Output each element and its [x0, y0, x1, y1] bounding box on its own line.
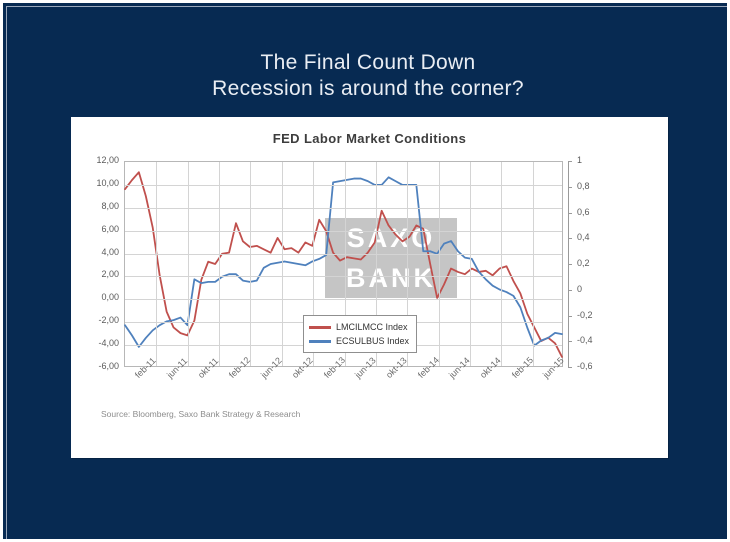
chart-title: FED Labor Market Conditions [71, 131, 668, 146]
y-axis-right-tick-label: 0,6 [577, 207, 590, 217]
gridline-horizontal [125, 276, 562, 277]
y-axis-right-tick-label: 1 [577, 155, 582, 165]
y-axis-left-tick-label: 6,00 [75, 224, 119, 234]
chart-panel: FED Labor Market Conditions 12,0010,008,… [71, 117, 668, 458]
gridline-vertical [533, 162, 534, 366]
gridline-vertical [282, 162, 283, 366]
slide-canvas: The Final Count Down Recession is around… [0, 0, 730, 542]
y-axis-left-tick-label: 10,00 [75, 178, 119, 188]
gridline-horizontal [125, 299, 562, 300]
y-axis-right-spine [568, 161, 569, 367]
y-axis-right-tick-label: -0,4 [577, 335, 593, 345]
gridline-vertical [439, 162, 440, 366]
gridline-vertical [250, 162, 251, 366]
y-axis-left-tick-label: -4,00 [75, 338, 119, 348]
legend-label: LMCILMCC Index [336, 322, 408, 332]
y-axis-left-tick-label: -2,00 [75, 315, 119, 325]
y-axis-right-tick-label: 0 [577, 284, 582, 294]
gridline-horizontal [125, 231, 562, 232]
gridline-vertical [501, 162, 502, 366]
gridline-vertical [156, 162, 157, 366]
y-axis-right-tick-label: -0,6 [577, 361, 593, 371]
source-note: Source: Bloomberg, Saxo Bank Strategy & … [101, 409, 300, 419]
y-axis-right-tick-label: 0,8 [577, 181, 590, 191]
y-axis-left-tick-label: 4,00 [75, 247, 119, 257]
gridline-vertical [470, 162, 471, 366]
legend-label: ECSULBUS Index [336, 336, 409, 346]
gridline-vertical [188, 162, 189, 366]
chart-legend: LMCILMCC IndexECSULBUS Index [303, 315, 417, 353]
y-axis-left-tick-label: 0,00 [75, 292, 119, 302]
y-axis-right-tick-label: 0,2 [577, 258, 590, 268]
y-axis-left-tick-label: 8,00 [75, 201, 119, 211]
legend-swatch-icon [309, 340, 331, 343]
y-axis-left-tick-label: 2,00 [75, 269, 119, 279]
y-axis-right: 10,80,60,40,20-0,2-0,4-0,6 [568, 161, 608, 367]
y-axis-right-tick [568, 367, 572, 368]
y-axis-left-tick-label: 12,00 [75, 155, 119, 165]
y-axis-right-tick-label: 0,4 [577, 232, 590, 242]
legend-swatch-icon [309, 326, 331, 329]
gridline-horizontal [125, 185, 562, 186]
y-axis-left: 12,0010,008,006,004,002,000,00-2,00-4,00… [71, 161, 119, 367]
y-axis-right-tick-label: -0,2 [577, 310, 593, 320]
gridline-horizontal [125, 208, 562, 209]
legend-item[interactable]: ECSULBUS Index [309, 334, 409, 348]
y-axis-left-tick-label: -6,00 [75, 361, 119, 371]
gridline-horizontal [125, 254, 562, 255]
slide-title: The Final Count Down Recession is around… [3, 50, 730, 102]
gridline-vertical [219, 162, 220, 366]
legend-item[interactable]: LMCILMCC Index [309, 320, 409, 334]
